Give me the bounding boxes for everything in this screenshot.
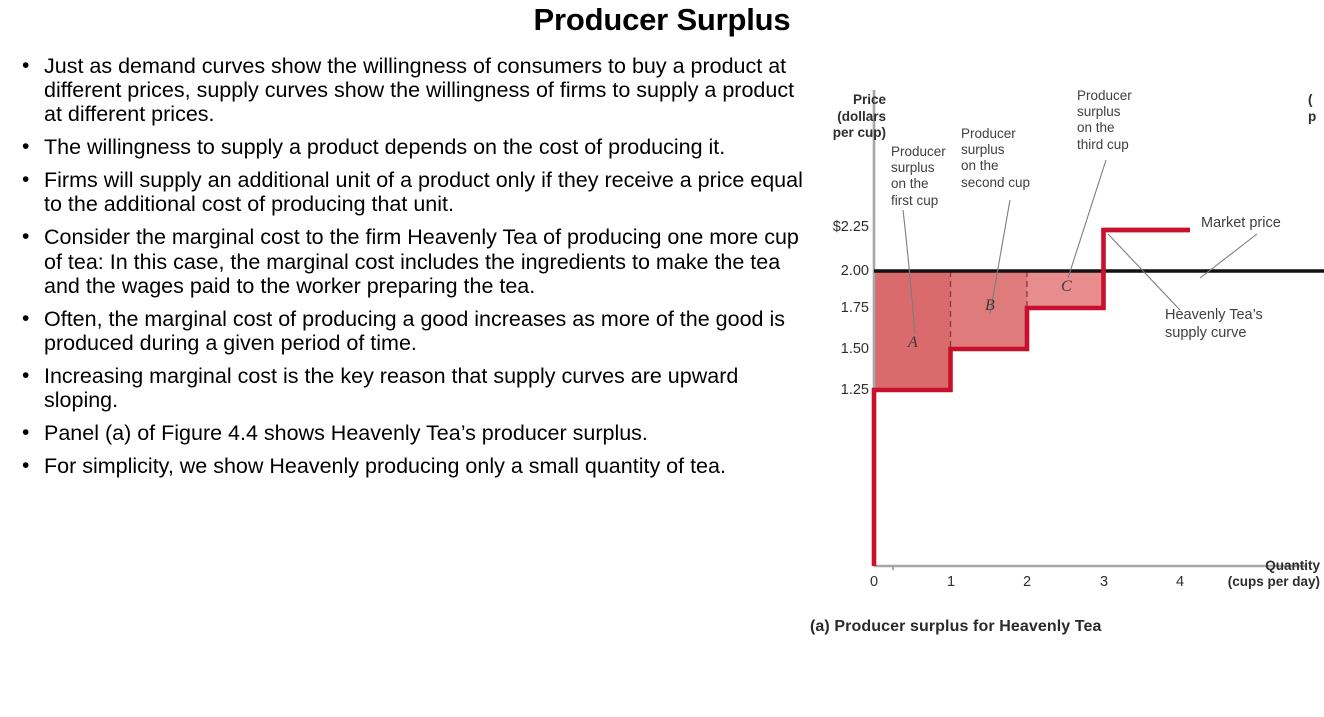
bullet-marker-icon: • bbox=[22, 421, 29, 445]
bullet-marker-icon: • bbox=[22, 54, 29, 78]
bullet-marker-icon: • bbox=[22, 225, 29, 249]
x-tick-label: 4 bbox=[1167, 574, 1193, 590]
list-item: • Increasing marginal cost is the key re… bbox=[8, 364, 808, 412]
supply-curve-label: Heavenly Tea’s supply curve bbox=[1165, 307, 1263, 342]
producer-surplus-figure: $2.25 2.00 1.75 1.50 1.25 0 1 2 3 4 A B … bbox=[805, 82, 1324, 652]
bullet-marker-icon: • bbox=[22, 307, 29, 331]
bullet-marker-icon: • bbox=[22, 454, 29, 478]
bullet-marker-icon: • bbox=[22, 135, 29, 159]
leader-line-third-cup bbox=[1068, 160, 1106, 278]
list-item-text: Panel (a) of Figure 4.4 shows Heavenly T… bbox=[44, 421, 648, 445]
y-axis-title: Price (dollars per cup) bbox=[808, 92, 886, 142]
list-item-text: Increasing marginal cost is the key reas… bbox=[44, 364, 738, 412]
second-panel-axis-fragment: ( p bbox=[1308, 92, 1316, 125]
list-item-text: Consider the marginal cost to the firm H… bbox=[44, 225, 799, 297]
y-tick-label: $2.25 bbox=[807, 219, 869, 235]
bullet-marker-icon: • bbox=[22, 364, 29, 388]
y-tick-label: 1.25 bbox=[807, 382, 869, 398]
list-item: • Firms will supply an additional unit o… bbox=[8, 168, 808, 216]
region-label-b: B bbox=[985, 297, 995, 315]
x-axis-title: Quantity (cups per day) bbox=[1200, 558, 1320, 590]
list-item-text: For simplicity, we show Heavenly produci… bbox=[44, 454, 726, 478]
surplus-region-a-fill bbox=[874, 271, 951, 390]
market-price-label: Market price bbox=[1201, 215, 1281, 232]
x-tick-label: 3 bbox=[1091, 574, 1117, 590]
x-tick-label: 0 bbox=[861, 574, 887, 590]
region-label-a: A bbox=[908, 334, 918, 352]
figure-caption: (a) Producer surplus for Heavenly Tea bbox=[810, 618, 1102, 636]
list-item-text: Firms will supply an additional unit of … bbox=[44, 168, 803, 216]
list-item: • Just as demand curves show the willing… bbox=[8, 54, 808, 126]
list-item-text: Often, the marginal cost of producing a … bbox=[44, 307, 785, 355]
list-item-text: The willingness to supply a product depe… bbox=[44, 135, 725, 159]
region-label-c: C bbox=[1061, 278, 1072, 296]
y-tick-label: 1.75 bbox=[807, 300, 869, 316]
callout-third-cup: Producer surplus on the third cup bbox=[1077, 88, 1132, 153]
list-item: • For simplicity, we show Heavenly produ… bbox=[8, 454, 808, 478]
bullet-marker-icon: • bbox=[22, 168, 29, 192]
list-item: • Consider the marginal cost to the firm… bbox=[8, 225, 808, 297]
page-title: Producer Surplus bbox=[0, 2, 1324, 38]
y-tick-label: 2.00 bbox=[807, 263, 869, 279]
x-tick-label: 2 bbox=[1014, 574, 1040, 590]
producer-surplus-chart bbox=[805, 82, 1324, 612]
list-item: • Panel (a) of Figure 4.4 shows Heavenly… bbox=[8, 421, 808, 445]
x-tick-label: 1 bbox=[938, 574, 964, 590]
callout-second-cup: Producer surplus on the second cup bbox=[961, 126, 1030, 191]
bullet-list: • Just as demand curves show the willing… bbox=[8, 54, 808, 487]
callout-first-cup: Producer surplus on the first cup bbox=[891, 144, 946, 209]
list-item: • Often, the marginal cost of producing … bbox=[8, 307, 808, 355]
y-tick-label: 1.50 bbox=[807, 341, 869, 357]
list-item: • The willingness to supply a product de… bbox=[8, 135, 808, 159]
list-item-text: Just as demand curves show the willingne… bbox=[44, 54, 794, 126]
